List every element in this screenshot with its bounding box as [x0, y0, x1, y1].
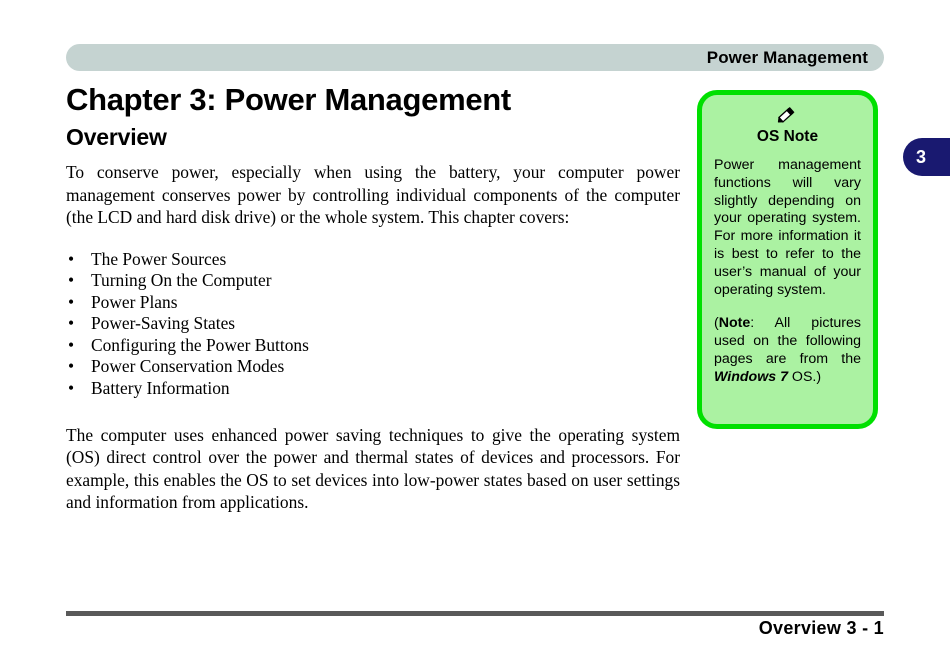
chapter-tab-number: 3: [916, 147, 926, 168]
list-item-label: Power Conservation Modes: [91, 356, 284, 376]
running-header-title: Power Management: [707, 48, 868, 68]
pen-icon: [714, 103, 861, 127]
list-item: • Turning On the Computer: [66, 270, 680, 292]
os-note-label: Note: [719, 315, 751, 331]
footer-page-label: Overview 3 - 1: [759, 618, 884, 639]
bullet-icon: •: [68, 356, 74, 378]
list-item: • Power Plans: [66, 292, 680, 314]
os-note-end-text: OS.): [788, 369, 821, 385]
list-item: • Battery Information: [66, 378, 680, 400]
os-note-paragraph-2: (Note: All pictures used on the followin…: [714, 315, 861, 386]
list-item-label: The Power Sources: [91, 249, 226, 269]
footer-divider: [66, 611, 884, 616]
os-note-paragraph-1: Power management functions will vary sli…: [714, 157, 861, 299]
intro-paragraph: To conserve power, especially when using…: [66, 161, 680, 229]
list-item: • Configuring the Power Buttons: [66, 335, 680, 357]
bullet-icon: •: [68, 249, 74, 271]
list-item-label: Configuring the Power Buttons: [91, 335, 309, 355]
list-item-label: Battery Information: [91, 378, 230, 398]
chapter-title: Chapter 3: Power Management: [66, 82, 680, 118]
list-item: • Power Conservation Modes: [66, 356, 680, 378]
section-title-overview: Overview: [66, 124, 680, 151]
bullet-icon: •: [68, 313, 74, 335]
bullet-icon: •: [68, 378, 74, 400]
list-item-label: Power Plans: [91, 292, 177, 312]
os-note-heading: OS Note: [714, 127, 861, 146]
list-item-label: Turning On the Computer: [91, 270, 272, 290]
chapter-topics-list: • The Power Sources • Turning On the Com…: [66, 249, 680, 400]
list-item-label: Power-Saving States: [91, 313, 235, 333]
running-header-bar: Power Management: [66, 44, 884, 71]
paragraph-spacer: [66, 400, 680, 422]
main-content-column: Chapter 3: Power Management Overview To …: [66, 82, 680, 514]
list-item: • The Power Sources: [66, 249, 680, 271]
bullet-icon: •: [68, 292, 74, 314]
os-note-emphasis: Windows 7: [714, 369, 788, 385]
closing-paragraph: The computer uses enhanced power saving …: [66, 424, 680, 514]
bullet-icon: •: [68, 335, 74, 357]
chapter-number-tab: 3: [903, 138, 950, 176]
bullet-icon: •: [68, 270, 74, 292]
list-item: • Power-Saving States: [66, 313, 680, 335]
os-note-callout: OS Note Power management functions will …: [697, 90, 878, 429]
